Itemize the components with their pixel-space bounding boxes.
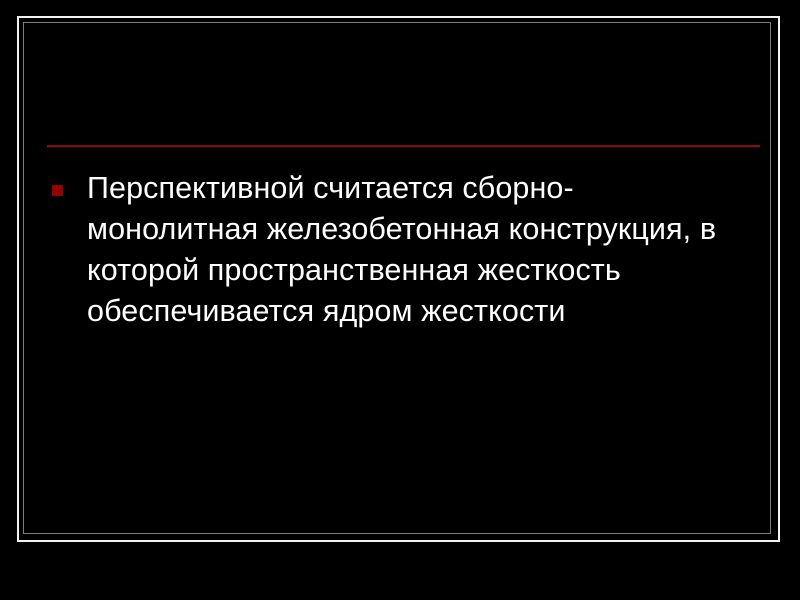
bullet-list-item: Перспективной считается сборно-монолитна… (52, 168, 742, 332)
square-bullet-icon (52, 185, 63, 196)
red-horizontal-rule (47, 145, 760, 147)
presentation-slide: Перспективной считается сборно-монолитна… (0, 0, 800, 600)
bullet-item-text: Перспективной считается сборно-монолитна… (87, 168, 742, 332)
